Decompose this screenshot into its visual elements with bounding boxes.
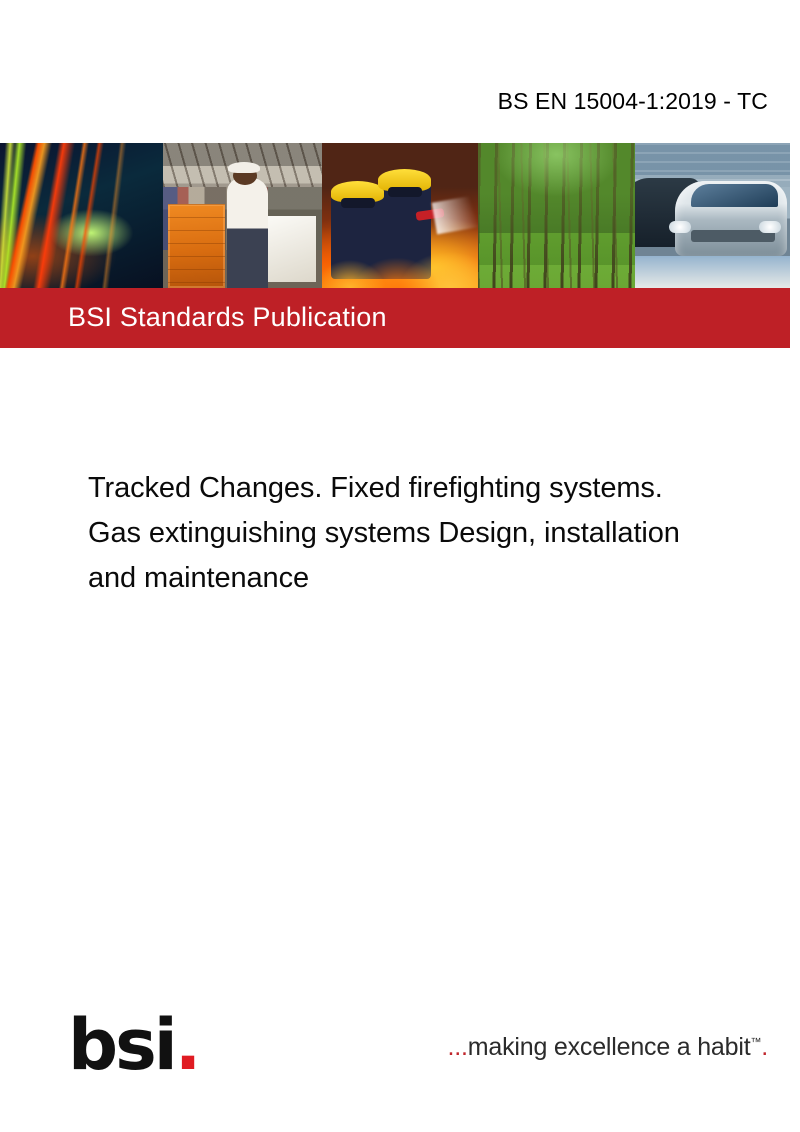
bsi-logo-text: bsi (68, 1004, 175, 1086)
tagline-ellipsis: ... (448, 1033, 468, 1061)
car-headlamp-right (759, 221, 781, 233)
tagline-text: making excellence a habit (468, 1033, 751, 1061)
hero-image-strip (0, 143, 790, 288)
document-page: BS EN 15004-1:2019 - TC (0, 0, 800, 1132)
car-windshield (691, 184, 778, 207)
warehouse-box (268, 216, 316, 283)
worker-body (227, 178, 268, 288)
tagline-end-dot: . (761, 1033, 768, 1061)
car-headlamp-left (669, 221, 691, 233)
worker-cap (228, 162, 260, 174)
hero-image-firefighters-hose (322, 143, 478, 288)
brand-banner: BSI Standards Publication (0, 288, 790, 348)
flames (322, 221, 478, 288)
hero-image-car-assembly-line (635, 143, 790, 288)
mask-left (341, 198, 375, 208)
bsi-logo-dot: . (175, 1004, 199, 1086)
page-footer: bsi. ...making excellence a habit™. (0, 1000, 800, 1080)
page-title: Tracked Changes. Fixed firefighting syst… (88, 466, 708, 601)
trademark-icon: ™ (750, 1037, 761, 1049)
standard-reference: BS EN 15004-1:2019 - TC (498, 88, 768, 115)
hero-image-forest-trees (478, 143, 635, 288)
factory-floor (635, 256, 790, 288)
hero-image-night-traffic-light-trails (0, 143, 163, 288)
brand-banner-label: BSI Standards Publication (68, 302, 387, 333)
hero-image-warehouse-worker (163, 143, 322, 288)
warehouse-crate (168, 204, 225, 288)
bsi-tagline: ...making excellence a habit™. (448, 1033, 768, 1062)
bsi-logo: bsi. (68, 1010, 198, 1080)
mask-right (388, 187, 422, 197)
